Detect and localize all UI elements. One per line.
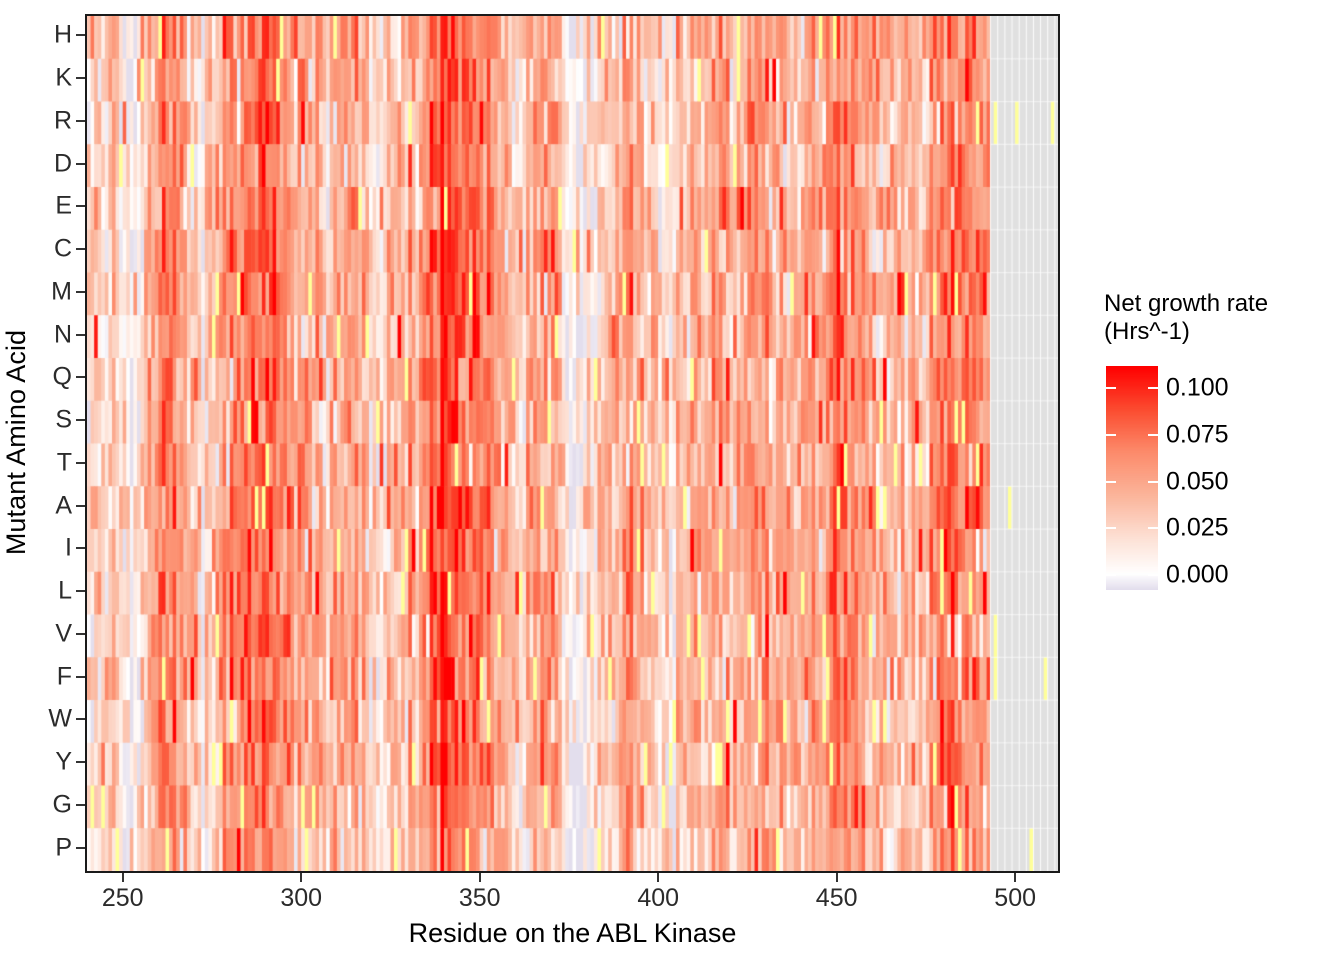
y-tick-mark-L: [76, 590, 85, 592]
y-tick-label-C: C: [34, 237, 72, 262]
x-tick-mark-300: [300, 873, 302, 882]
legend-label-0.050: 0.050: [1166, 469, 1229, 494]
y-tick-label-R: R: [34, 108, 72, 133]
legend: Net growth rate (Hrs^-1) 0.1000.0750.050…: [1104, 290, 1340, 600]
y-tick-mark-C: [76, 248, 85, 250]
y-tick-label-E: E: [34, 194, 72, 219]
y-tick-mark-Y: [76, 761, 85, 763]
y-tick-label-K: K: [34, 66, 72, 91]
y-tick-label-H: H: [34, 23, 72, 48]
y-tick-label-Y: Y: [34, 750, 72, 775]
y-tick-mark-N: [76, 334, 85, 336]
legend-colorbar-gradient: [1106, 366, 1158, 590]
x-tick-label-500: 500: [994, 884, 1036, 913]
y-tick-label-L: L: [34, 579, 72, 604]
legend-label-0.025: 0.025: [1166, 516, 1229, 541]
x-tick-mark-400: [657, 873, 659, 882]
x-tick-label-400: 400: [637, 884, 679, 913]
legend-tick-mark-0.050-left: [1106, 481, 1116, 483]
y-tick-label-M: M: [34, 279, 72, 304]
y-tick-label-D: D: [34, 151, 72, 176]
x-tick-mark-350: [479, 873, 481, 882]
y-tick-mark-I: [76, 547, 85, 549]
y-tick-mark-S: [76, 419, 85, 421]
y-tick-label-N: N: [34, 322, 72, 347]
legend-tick-mark-0.100-right: [1148, 387, 1158, 389]
legend-colorbar: [1106, 366, 1158, 590]
y-tick-mark-W: [76, 718, 85, 720]
legend-tick-mark-0.075-left: [1106, 434, 1116, 436]
y-tick-label-P: P: [34, 835, 72, 860]
y-axis-tick-marks: [76, 14, 85, 873]
y-tick-label-W: W: [34, 707, 72, 732]
legend-tick-mark-0.050-right: [1148, 481, 1158, 483]
y-tick-mark-A: [76, 505, 85, 507]
x-tick-mark-500: [1014, 873, 1016, 882]
y-tick-mark-F: [76, 676, 85, 678]
legend-tick-mark-0.025-right: [1148, 527, 1158, 529]
y-tick-label-T: T: [34, 450, 72, 475]
legend-label-0.000: 0.000: [1166, 563, 1229, 588]
y-tick-label-A: A: [34, 493, 72, 518]
y-tick-mark-G: [76, 804, 85, 806]
y-tick-label-Q: Q: [34, 365, 72, 390]
y-axis-title: Mutant Amino Acid: [0, 0, 34, 885]
y-tick-mark-V: [76, 633, 85, 635]
legend-tick-mark-0.100-left: [1106, 387, 1116, 389]
legend-label-0.075: 0.075: [1166, 423, 1229, 448]
y-tick-mark-D: [76, 163, 85, 165]
y-axis-tick-labels: HKRDECMNQSTAILVFWYGP: [34, 14, 72, 873]
legend-tick-mark-0.025-left: [1106, 527, 1116, 529]
x-tick-label-350: 350: [459, 884, 501, 913]
x-tick-mark-250: [122, 873, 124, 882]
legend-title: Net growth rate (Hrs^-1): [1104, 290, 1340, 347]
y-tick-mark-T: [76, 462, 85, 464]
y-tick-mark-Q: [76, 376, 85, 378]
y-tick-mark-M: [76, 291, 85, 293]
legend-title-line-1: Net growth rate: [1104, 290, 1340, 318]
y-tick-label-S: S: [34, 408, 72, 433]
x-tick-mark-450: [836, 873, 838, 882]
x-axis-tick-marks: [85, 873, 1060, 882]
x-tick-label-250: 250: [102, 884, 144, 913]
legend-tick-mark-0.000-right: [1148, 574, 1158, 576]
x-tick-label-300: 300: [280, 884, 322, 913]
x-axis-title: Residue on the ABL Kinase: [85, 918, 1060, 949]
legend-tick-labels: 0.1000.0750.0500.0250.000: [1166, 366, 1326, 590]
y-tick-mark-E: [76, 205, 85, 207]
legend-tick-mark-0.075-right: [1148, 434, 1158, 436]
heatmap-panel[interactable]: [85, 14, 1060, 873]
y-tick-label-V: V: [34, 621, 72, 646]
y-tick-mark-R: [76, 120, 85, 122]
legend-tick-mark-0.000-left: [1106, 574, 1116, 576]
y-axis-title-text: Mutant Amino Acid: [2, 330, 33, 555]
x-axis-tick-labels: 250300350400450500: [85, 884, 1060, 916]
heatmap-canvas[interactable]: [87, 16, 1058, 871]
legend-title-line-2: (Hrs^-1): [1104, 318, 1340, 346]
legend-label-0.100: 0.100: [1166, 376, 1229, 401]
y-tick-label-G: G: [34, 792, 72, 817]
y-tick-mark-P: [76, 847, 85, 849]
y-tick-label-F: F: [34, 664, 72, 689]
y-tick-mark-H: [76, 34, 85, 36]
y-tick-label-I: I: [34, 536, 72, 561]
y-tick-mark-K: [76, 77, 85, 79]
heatmap-figure: Mutant Amino Acid HKRDECMNQSTAILVFWYGP 2…: [0, 0, 1344, 960]
x-tick-label-450: 450: [816, 884, 858, 913]
